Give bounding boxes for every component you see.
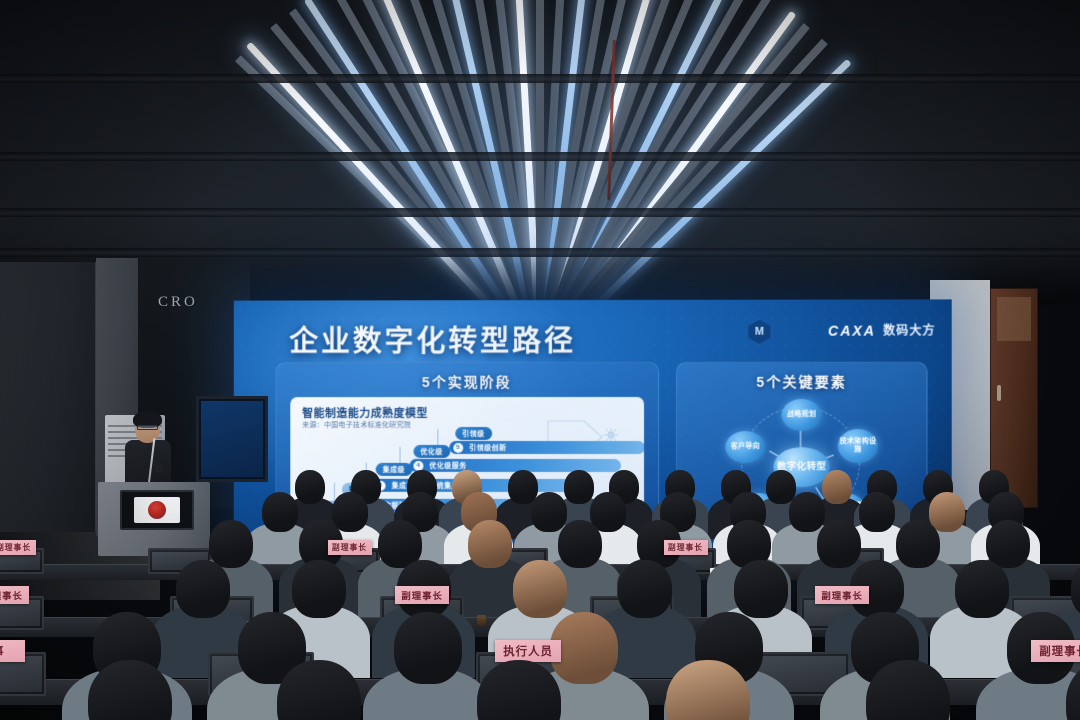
name-placard: 副理事长	[1031, 640, 1080, 662]
audience-head	[618, 560, 672, 618]
audience-head	[986, 520, 1030, 568]
audience-head	[394, 612, 462, 684]
audience-head	[955, 560, 1009, 618]
name-placard: 副理事长	[0, 540, 36, 555]
stage-chip: 引领级	[455, 427, 491, 440]
stage-chip: 优化级	[413, 445, 449, 458]
stage-label: 引领级创新	[469, 442, 506, 452]
audience-head	[564, 470, 594, 504]
stage-label: 优化级服务	[429, 460, 466, 470]
name-placard: 副理事长	[815, 586, 869, 604]
audience-head	[468, 520, 512, 568]
window-blind	[0, 262, 96, 532]
glasses-icon	[137, 425, 158, 430]
audience-head	[209, 520, 253, 568]
stage-bar: 4 优化级服务	[409, 459, 621, 472]
audience-head	[513, 560, 567, 618]
brand-logo: CAXA 数码大方	[828, 322, 936, 339]
caxa-chinese-name: 数码大方	[883, 322, 935, 339]
audience-head	[817, 520, 861, 568]
audience-head	[292, 560, 346, 618]
node-customer: 客户导向	[725, 431, 765, 463]
stage-number: 4	[413, 460, 423, 470]
podium-monitor[interactable]	[120, 490, 194, 530]
ceiling-beam	[0, 208, 1080, 217]
conference-room-scene: CRO 企业数字化转型路径 M CAXA 数码大方 5个实现阶段 智能制造能力成…	[0, 0, 1080, 720]
door-window	[997, 297, 1031, 341]
slide-title: 企业数字化转型路径	[289, 318, 576, 360]
audience-head	[896, 520, 940, 568]
name-placard: 理事	[0, 640, 25, 662]
maturity-model-title: 智能制造能力成熟度模型	[302, 405, 428, 421]
ceiling-beam	[0, 152, 1080, 161]
association-emblem-icon	[134, 497, 180, 523]
name-placard: 副理事长	[664, 540, 708, 555]
audience-head	[176, 560, 230, 618]
caxa-wordmark: CAXA	[828, 322, 876, 338]
audience-head	[822, 470, 852, 504]
stage-bar: 5 引领级创新	[449, 441, 644, 454]
audience-head	[531, 492, 567, 532]
audience-head	[789, 492, 825, 532]
audience-head	[262, 492, 298, 532]
drink-cup	[477, 615, 486, 626]
name-placard: 副理事长	[395, 586, 449, 604]
node-technology: 技术架构设施	[838, 429, 878, 463]
audience-head	[734, 560, 788, 618]
maturity-model-source: 来源：中国电子技术标准化研究院	[302, 420, 411, 430]
ceiling-beam	[0, 74, 1080, 83]
door-handle-icon[interactable]	[997, 385, 1001, 401]
side-monitor	[196, 396, 268, 482]
audience-head	[558, 520, 602, 568]
side-monitor-screen	[201, 401, 263, 477]
name-placard: 执行人员	[495, 640, 561, 662]
audience-head	[859, 492, 895, 532]
name-placard: 副理事长	[328, 540, 372, 555]
node-strategy: 战略规划	[781, 399, 821, 431]
name-placard: 副理事长	[0, 586, 29, 604]
panel-left-heading: 5个实现阶段	[276, 372, 658, 392]
stage-number: 5	[453, 442, 463, 452]
podium-lectern	[98, 482, 210, 556]
audience-head	[295, 470, 325, 504]
stage-chip: 集成级	[376, 463, 412, 476]
venue-label: CRO	[158, 294, 198, 311]
